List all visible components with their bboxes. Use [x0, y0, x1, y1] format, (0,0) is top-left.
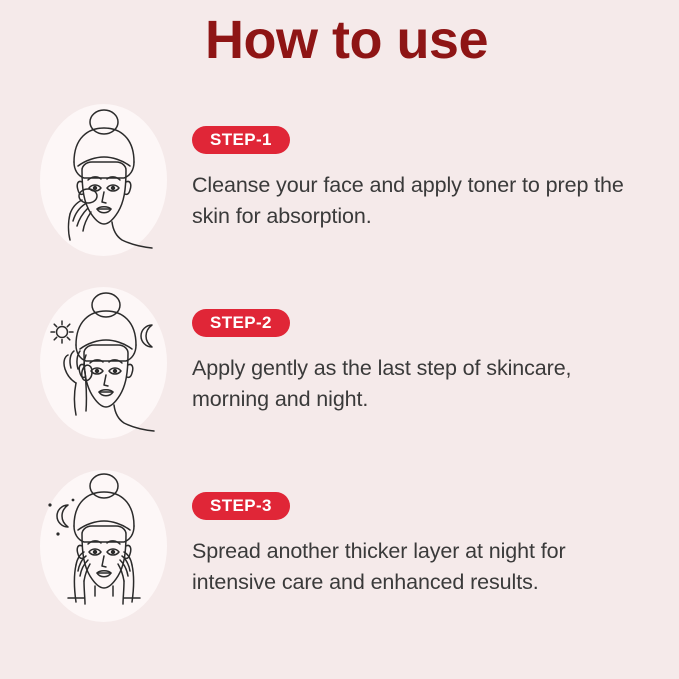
crescent-moon-icon: [57, 505, 68, 527]
step-3-description: Spread another thicker layer at night fo…: [192, 536, 642, 598]
step-2-content: STEP-2 Apply gently as the last step of …: [192, 309, 662, 415]
step-3-content: STEP-3 Spread another thicker layer at n…: [192, 492, 662, 598]
steps-list: STEP-1 Cleanse your face and apply toner…: [0, 104, 679, 653]
step-2-description: Apply gently as the last step of skincar…: [192, 353, 642, 415]
step-1-description: Cleanse your face and apply toner to pre…: [192, 170, 642, 232]
sun-icon: [51, 321, 73, 343]
crescent-moon-icon: [141, 325, 152, 347]
woman-massaging-face-both-hands-night-icon: [40, 470, 167, 622]
status-badge: STEP-1: [192, 126, 290, 154]
status-badge: STEP-3: [192, 492, 290, 520]
page-title: How to use: [0, 12, 679, 69]
status-badge: STEP-2: [192, 309, 290, 337]
how-to-use-infographic: How to use: [0, 0, 679, 679]
list-item: STEP-3 Spread another thicker layer at n…: [0, 470, 679, 653]
step-3-illustration: [40, 470, 167, 622]
list-item: STEP-2 Apply gently as the last step of …: [0, 287, 679, 470]
woman-applying-cream-day-night-icon: [40, 287, 167, 439]
woman-applying-toner-cotton-pad-icon: [40, 104, 167, 256]
step-1-illustration: [40, 104, 167, 256]
list-item: STEP-1 Cleanse your face and apply toner…: [0, 104, 679, 287]
step-2-illustration: [40, 287, 167, 439]
step-1-content: STEP-1 Cleanse your face and apply toner…: [192, 126, 662, 232]
